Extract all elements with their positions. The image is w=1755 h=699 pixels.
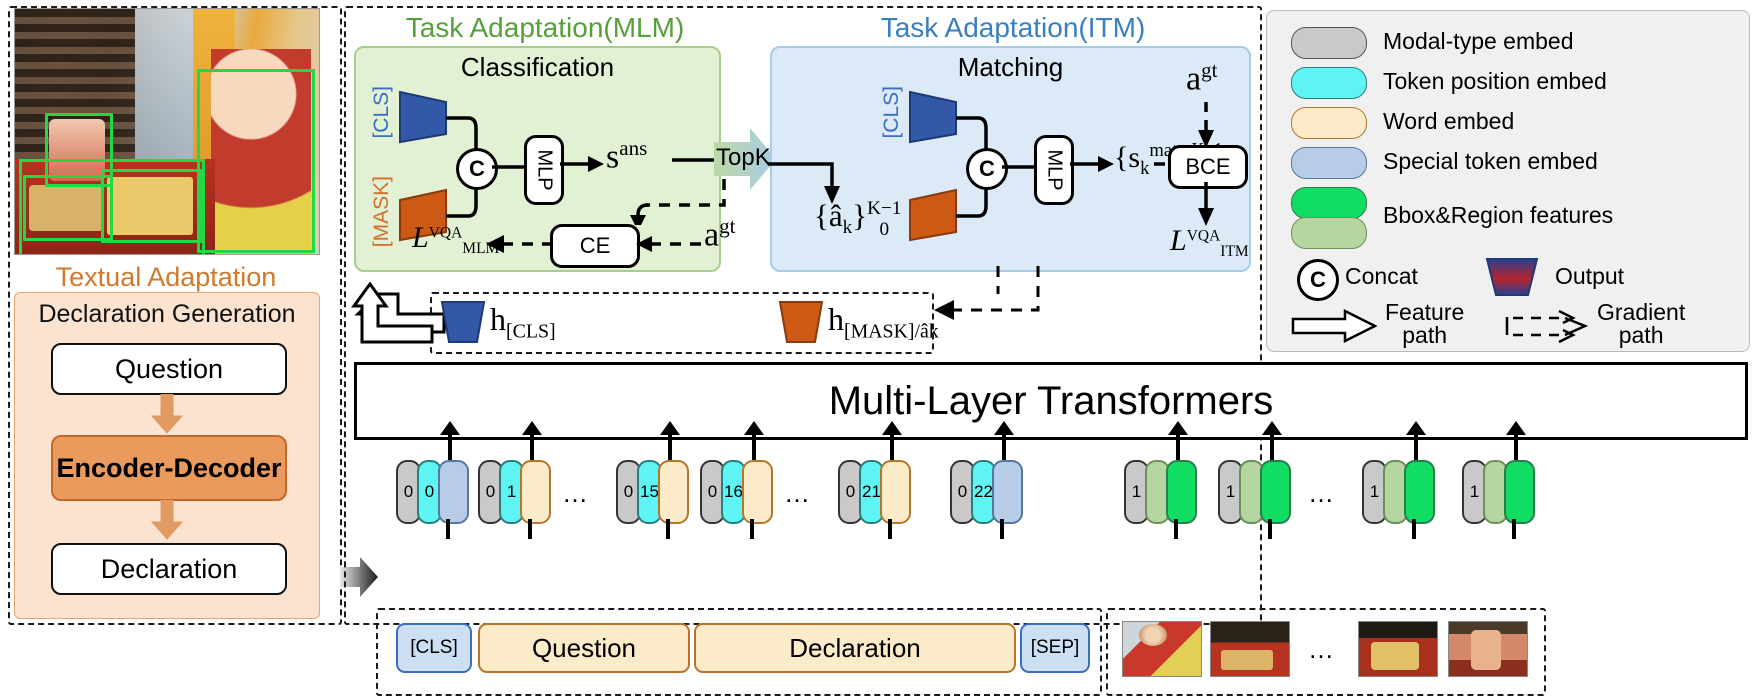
token-stack: 0 21 (838, 460, 907, 524)
token-arrow-icon (1414, 434, 1418, 460)
legend-swatch-word-embed (1291, 107, 1367, 139)
multi-layer-transformers: Multi-Layer Transformers (354, 362, 1748, 440)
legend-gradient-path-arrow-icon (1503, 309, 1589, 345)
cls-output-trapezoid-icon (908, 90, 958, 144)
token-arrow-icon (1002, 434, 1006, 460)
bbox-region (45, 113, 113, 187)
itm-box: Matching {âk}K−10 [CLS] C MLP {skmat}K−1… (770, 46, 1251, 272)
itm-gt-symbol: agt (1186, 58, 1218, 98)
topk-label: TopK (716, 144, 771, 172)
legend-label-word-embed: Word embed (1383, 108, 1514, 135)
mlm-mlp-block: MLP (524, 135, 564, 205)
token-arrow-icon (1514, 434, 1518, 460)
declaration-node[interactable]: Declaration (51, 543, 287, 595)
question-box[interactable]: Question (478, 623, 690, 673)
bbox-region (197, 69, 315, 253)
token-arrow-icon (1270, 434, 1274, 460)
token-arrow-icon (668, 434, 672, 460)
h-cls-label: h[CLS] (490, 301, 556, 343)
image-input-box: … (1106, 608, 1546, 696)
legend-swatch-bbox-features (1291, 217, 1367, 249)
declaration-box[interactable]: Declaration (694, 623, 1016, 673)
legend-swatch-region-features (1291, 187, 1367, 219)
mlm-title: Task Adaptation(MLM) (360, 12, 730, 44)
token-stack: 1 (1124, 460, 1193, 524)
token-arrow-icon (752, 434, 756, 460)
encoder-decoder-node[interactable]: Encoder-Decoder (51, 435, 287, 501)
candidate-output-trapezoid-icon (908, 188, 958, 242)
h-mask-trapezoid-icon (778, 300, 824, 344)
token-arrow-icon (890, 434, 894, 460)
itm-cls-label: [CLS] (880, 86, 904, 139)
token-stack: 1 (1218, 460, 1287, 524)
token-stack: 0 0 (396, 460, 465, 524)
bce-to-loss-arrow (1196, 182, 1216, 226)
token-to-input-connectors (380, 519, 1550, 543)
token-stack: 0 1 (478, 460, 547, 524)
token-ellipsis: … (784, 478, 812, 509)
token-stack: 1 (1462, 460, 1531, 524)
region-thumbnail[interactable] (1358, 621, 1438, 677)
mlm-mlp-label: MLP (533, 149, 556, 190)
mlm-cls-label: [CLS] (370, 86, 394, 139)
legend-label-gradient-path: Gradient path (1597, 301, 1685, 347)
legend-panel: Modal-type embed Token position embed Wo… (1266, 10, 1750, 352)
textual-adaptation-box: Declaration Generation Question Encoder-… (14, 292, 320, 619)
legend-swatch-modal-type (1291, 27, 1367, 59)
legend-label-concat: Concat (1345, 263, 1418, 290)
mlm-loss-symbol: LVQAMLM (412, 221, 499, 258)
region-feature-seg (1260, 460, 1291, 524)
cls-token-box[interactable]: [CLS] (396, 623, 472, 673)
token-ellipsis: … (562, 478, 590, 509)
legend-label-modal-type: Modal-type embed (1383, 28, 1574, 55)
region-thumbnail[interactable] (1448, 621, 1528, 677)
token-stack: 1 (1362, 460, 1431, 524)
special-token-seg (438, 460, 469, 524)
question-node[interactable]: Question (51, 343, 287, 395)
mlm-subtitle: Classification (356, 52, 719, 83)
arrow-down-icon (151, 500, 183, 540)
token-stack: 0 16 (700, 460, 769, 524)
itm-subtitle: Matching (772, 52, 1249, 83)
token-arrow-icon (1176, 434, 1180, 460)
legend-label-bbox-region: Bbox&Region features (1383, 202, 1613, 229)
itm-loss-symbol: LVQAITM (1170, 224, 1249, 261)
gradient-path-gt (634, 234, 706, 254)
mlm-mask-label: [MASK] (370, 176, 394, 247)
gt-to-bce-arrow (1196, 102, 1216, 148)
token-stack: 0 22 (950, 460, 1019, 524)
image-ellipsis: … (1308, 634, 1336, 665)
h-mask-label: h[MASK]/âk (828, 301, 939, 343)
mlm-gt-symbol: agt (704, 214, 736, 254)
legend-label-token-position: Token position embed (1383, 68, 1607, 95)
ce-block: CE (550, 224, 640, 268)
legend-concat-icon: C (1297, 259, 1339, 301)
itm-mlp-label: MLP (1043, 149, 1066, 190)
legend-label-feature-path: Feature path (1385, 301, 1464, 347)
token-arrow-icon (448, 434, 452, 460)
cls-output-trapezoid-icon (398, 90, 448, 144)
example-image (14, 8, 320, 255)
legend-feature-path-arrow-icon (1291, 309, 1377, 345)
region-feature-seg (1166, 460, 1197, 524)
word-embed-seg (658, 460, 689, 524)
word-embed-seg (742, 460, 773, 524)
itm-mlp-block: MLP (1034, 135, 1074, 205)
arrow-down-icon (151, 394, 183, 434)
legend-output-trapezoid-icon (1485, 257, 1539, 299)
legend-swatch-special-token (1291, 147, 1367, 179)
itm-gradient-stub (986, 266, 1012, 296)
token-ellipsis: … (1308, 478, 1336, 509)
feature-path-arrow-icon (348, 282, 452, 352)
wire (1002, 163, 1036, 171)
word-embed-seg (880, 460, 911, 524)
wire (492, 163, 526, 171)
word-embed-seg (520, 460, 551, 524)
special-token-seg (992, 460, 1023, 524)
h-cls-trapezoid-icon (440, 300, 486, 344)
legend-label-output: Output (1555, 263, 1624, 290)
itm-title: Task Adaptation(ITM) (778, 12, 1248, 44)
token-arrow-icon (530, 434, 534, 460)
arrow-right-icon (1070, 154, 1116, 174)
region-feature-seg (1404, 460, 1435, 524)
bbox-region (101, 169, 203, 243)
token-stack: 0 15 (616, 460, 685, 524)
declaration-generation-title: Declaration Generation (15, 300, 319, 329)
legend-label-special-token: Special token embed (1383, 148, 1598, 175)
text-input-box: [CLS] Question Declaration [SEP] (376, 608, 1102, 696)
region-feature-seg (1504, 460, 1535, 524)
legend-swatch-token-position (1291, 67, 1367, 99)
textual-adaptation-title: Textual Adaptation (14, 262, 318, 293)
sep-token-box[interactable]: [SEP] (1020, 623, 1090, 673)
region-thumbnail[interactable] (1122, 621, 1202, 677)
region-thumbnail[interactable] (1210, 621, 1290, 677)
itm-candidate-set: {âk}K−10 (814, 198, 911, 239)
mlm-box: Classification [CLS] [MASK] C MLP sans C… (354, 46, 721, 272)
transformer-label: Multi-Layer Transformers (829, 379, 1274, 424)
